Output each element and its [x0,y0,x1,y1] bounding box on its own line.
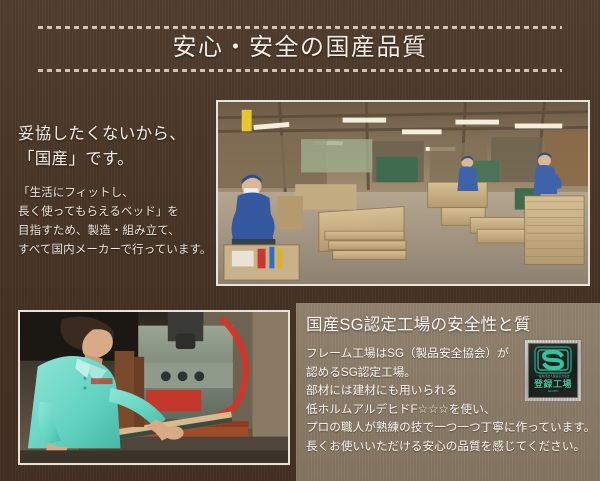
sg-body-line6: 長くお使いいただける安心の品質を感じてください。 [306,438,600,457]
promo-page: 安心・安全の国産品質 妥協したくないから、 「国産」です。 「生活にフィットし、… [0,0,600,481]
lead-headline-line1: 妥協したくないから、 [18,122,213,147]
sg-body-line5: プロの職人が熟練の技で一つ一つ丁寧に作っています。 [306,419,600,438]
sg-body-line2: 認めるSG認定工場。 [306,364,600,383]
sg-panel: 国産SG認定工場の安全性と質 フレーム工場はSG（製品安全協会）が 認めるSG認… [296,303,600,481]
craftsman-photo [18,310,290,465]
header-divider-top [38,26,562,29]
factory-photo [216,100,590,286]
sg-body-line1: フレーム工場はSG（製品安全協会）が [306,345,600,364]
page-title: 安心・安全の国産品質 [0,32,600,64]
lead-body-line2: 長く使ってもらえるベッド」を [18,203,213,222]
lead-copy-block: 妥協したくないから、 「国産」です。 「生活にフィットし、 長く使ってもらえるベ… [18,122,213,260]
sg-body-line4: 低ホルムアルデヒドF☆☆☆を使い、 [306,401,600,420]
header-divider-bottom [38,69,562,72]
craftsman-photo-image [20,312,288,463]
lead-headline-line2: 「国産」です。 [18,147,213,172]
sg-body-line3: 部材には建材にも用いられる [306,382,600,401]
lead-body-line4: すべて国内メーカーで行っています。 [18,241,213,260]
sg-panel-title: 国産SG認定工場の安全性と質 [306,314,600,336]
factory-photo-image [218,102,588,284]
lead-body-line1: 「生活にフィットし、 [18,184,213,203]
lead-body-line3: 目指すため、製造・組み立て、 [18,222,213,241]
